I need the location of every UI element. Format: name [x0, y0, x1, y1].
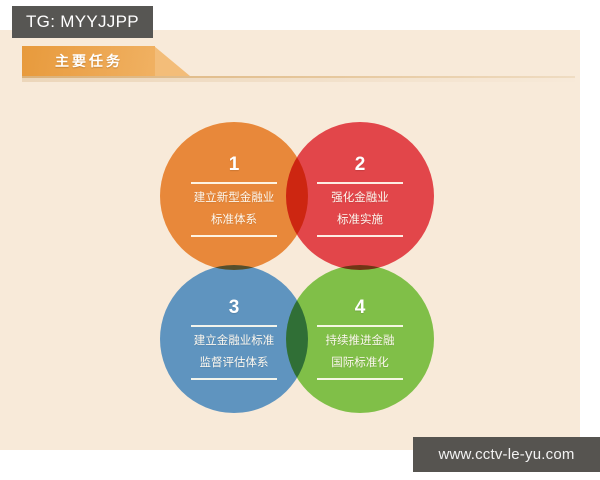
venn-circle-4[interactable]	[286, 265, 434, 413]
venn-diagram: 1 建立新型金融业 标准体系 2 强化金融业 标准实施 3 建立金融业标准 监督…	[0, 0, 600, 480]
venn-circle-2[interactable]	[286, 122, 434, 270]
tg-tag-overlay: TG: MYYJJPP	[12, 6, 153, 38]
watermark-overlay: www.cctv-le-yu.com	[413, 437, 600, 472]
